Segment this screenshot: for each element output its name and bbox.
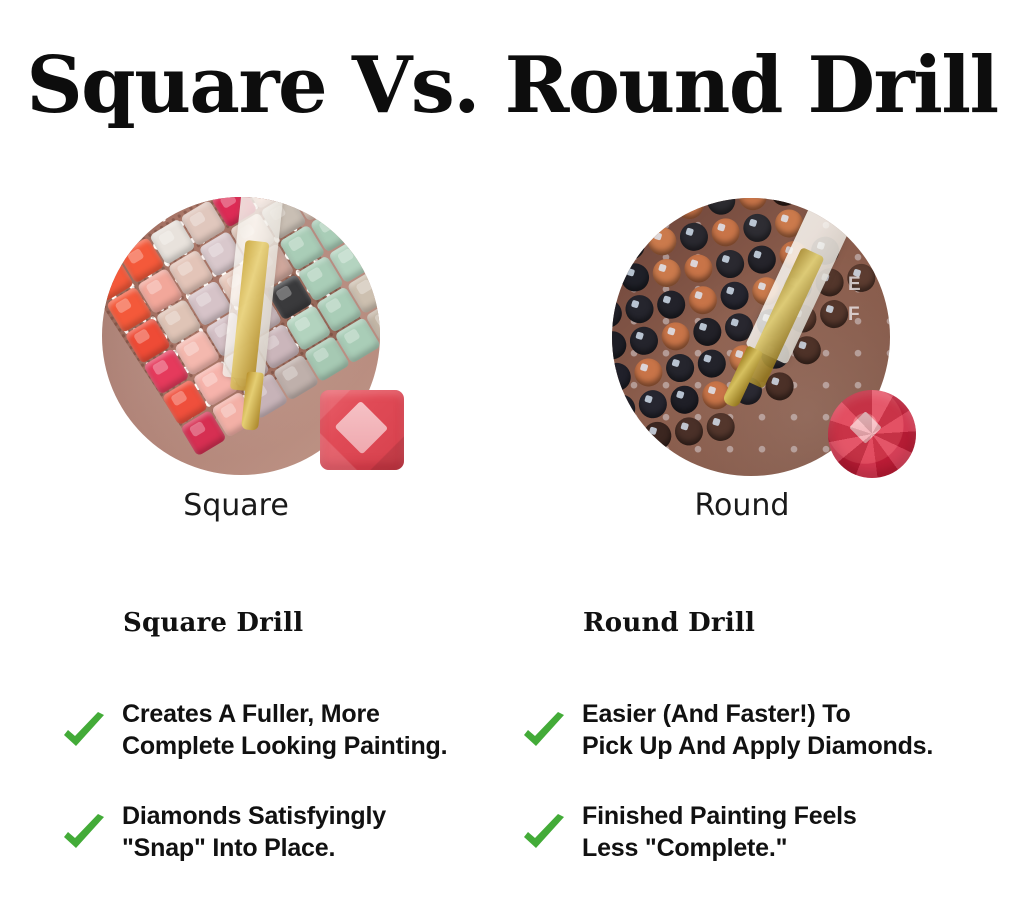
canvas-letter: F — [848, 304, 860, 326]
caption-round: Round — [592, 489, 892, 523]
round-bead — [612, 266, 619, 298]
round-bead — [737, 198, 769, 212]
bullet-list-square: Creates A Fuller, More Complete Looking … — [60, 694, 480, 868]
heading-square-drill: Square Drill — [123, 608, 480, 638]
round-bead — [642, 198, 674, 225]
round-bead — [800, 398, 832, 430]
round-bead — [619, 262, 651, 294]
round-bead — [742, 212, 774, 244]
round-bead — [633, 357, 665, 389]
round-bead — [873, 226, 890, 258]
square-drill-photo — [102, 197, 412, 487]
round-bead — [859, 357, 890, 389]
round-bead — [673, 416, 705, 448]
list-item: Diamonds Satisfyingly "Snap" Into Place. — [60, 796, 480, 868]
round-bead — [664, 352, 696, 384]
list-item: Finished Painting Feels Less "Complete." — [520, 796, 940, 868]
round-bead — [628, 325, 660, 357]
column-square-drill: Square Drill Creates A Fuller, More Comp… — [60, 608, 480, 898]
round-bead — [737, 407, 769, 439]
list-item: Creates A Fuller, More Complete Looking … — [60, 694, 480, 766]
bullet-list-round: Easier (And Faster!) To Pick Up And Appl… — [520, 694, 940, 868]
round-bead — [719, 280, 751, 312]
round-bead — [612, 298, 624, 330]
round-bead — [827, 362, 859, 394]
round-bead — [612, 329, 628, 361]
round-bead — [612, 234, 615, 266]
infographic-page: Square Vs. Round Drill — [0, 0, 1024, 923]
round-bead — [696, 348, 728, 380]
round-bead — [746, 244, 778, 276]
canvas-letter: E — [848, 274, 861, 296]
check-icon — [520, 708, 568, 756]
heading-round-drill: Round Drill — [583, 608, 940, 638]
round-bead — [877, 258, 890, 290]
round-bead — [818, 298, 850, 330]
page-title: Square Vs. Round Drill — [0, 46, 1024, 126]
round-bead — [612, 198, 642, 230]
round-bead — [882, 289, 890, 321]
round-bead — [823, 330, 855, 362]
round-bead — [768, 402, 800, 434]
round-bead — [795, 366, 827, 398]
round-bead — [687, 284, 719, 316]
check-icon — [60, 810, 108, 858]
round-bead — [655, 289, 687, 321]
round-bead — [683, 253, 715, 285]
round-bead — [710, 217, 742, 249]
round-bead — [678, 221, 710, 253]
check-icon — [520, 810, 568, 858]
round-bead — [612, 361, 633, 393]
round-bead — [646, 225, 678, 257]
round-bead — [624, 293, 656, 325]
list-item-label: Creates A Fuller, More Complete Looking … — [122, 698, 447, 762]
list-item-label: Easier (And Faster!) To Pick Up And Appl… — [582, 698, 933, 762]
round-bead — [714, 248, 746, 280]
round-bead — [674, 198, 706, 221]
round-bead — [612, 393, 637, 425]
round-bead — [612, 424, 641, 456]
round-bead — [651, 257, 683, 289]
round-bead — [854, 325, 886, 357]
caption-square: Square — [86, 489, 386, 523]
list-item-label: Diamonds Satisfyingly "Snap" Into Place. — [122, 800, 386, 864]
round-bead — [642, 420, 674, 452]
round-bead — [868, 198, 890, 226]
check-icon — [60, 708, 108, 756]
column-round-drill: Round Drill Easier (And Faster!) To Pick… — [520, 608, 940, 898]
round-bead — [669, 384, 701, 416]
round-bead — [615, 230, 647, 262]
round-bead — [705, 198, 737, 216]
list-item-label: Finished Painting Feels Less "Complete." — [582, 800, 857, 864]
round-bead — [886, 321, 890, 353]
round-gem — [828, 390, 916, 478]
round-bead — [660, 321, 692, 353]
square-gem — [320, 390, 404, 470]
pen-wax-core — [230, 240, 270, 392]
round-bead — [692, 316, 724, 348]
round-bead — [769, 198, 801, 208]
round-drill-photo: E F — [612, 198, 922, 488]
round-bead — [637, 388, 669, 420]
list-item: Easier (And Faster!) To Pick Up And Appl… — [520, 694, 940, 766]
round-bead — [705, 411, 737, 443]
